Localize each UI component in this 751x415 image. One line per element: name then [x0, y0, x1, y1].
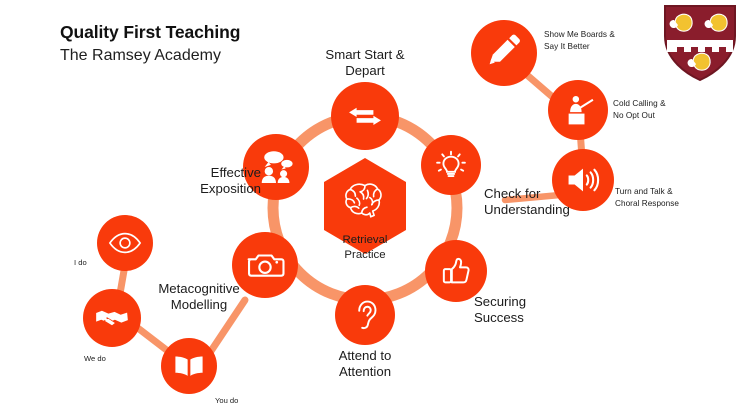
- node-i-do[interactable]: [97, 215, 153, 271]
- label-show-me-boards: Show Me Boards & Say It Better: [544, 29, 652, 53]
- node-attend-to-attention[interactable]: [335, 285, 395, 345]
- label-you-do: You do: [215, 396, 238, 405]
- node-check-for-understanding[interactable]: [421, 135, 481, 195]
- label-retrieval-practice: Retrieval Practice: [315, 233, 415, 263]
- node-smart-start-depart[interactable]: [331, 82, 399, 150]
- label-we-do: We do: [84, 354, 106, 363]
- slide-canvas: Quality First Teaching The Ramsey Academ…: [0, 0, 751, 415]
- node-cold-calling[interactable]: [548, 80, 608, 140]
- label-effective-exposition: Effective Exposition: [165, 165, 261, 197]
- label-smart-start-depart: Smart Start & Depart: [294, 47, 436, 79]
- ramsey-academy-crest: [665, 6, 735, 80]
- label-check-for-understanding: Check for Understanding: [484, 186, 604, 218]
- node-securing-success[interactable]: [425, 240, 487, 302]
- node-you-do[interactable]: [161, 338, 217, 394]
- node-show-me-boards[interactable]: [471, 20, 537, 86]
- label-securing-success: Securing Success: [474, 294, 584, 326]
- label-attend-to-attention: Attend to Attention: [299, 348, 431, 380]
- label-i-do: I do: [74, 258, 87, 267]
- node-we-do[interactable]: [83, 289, 141, 347]
- label-cold-calling: Cold Calling & No Opt Out: [613, 98, 713, 122]
- label-metacognitive-modelling: Metacognitive Modelling: [139, 281, 259, 313]
- label-turn-and-talk: Turn and Talk & Choral Response: [615, 186, 725, 210]
